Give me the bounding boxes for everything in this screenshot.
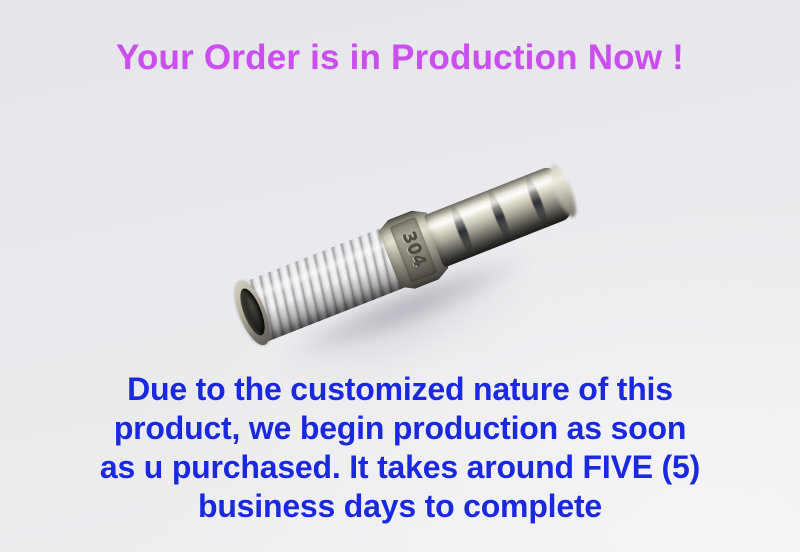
page-title: Your Order is in Production Now ! (0, 38, 800, 78)
message-line-3: as u purchased. It takes around FIVE (5) (0, 448, 800, 487)
message-line-2: product, we begin production as soon (0, 409, 800, 448)
message-line-4: business days to complete (0, 487, 800, 526)
notice-graphic: Your Order is in Production Now ! 304 (0, 0, 800, 552)
production-message: Due to the customized nature of this pro… (0, 370, 800, 526)
message-line-1: Due to the customized nature of this (0, 370, 800, 409)
product-photo: 304 (215, 130, 635, 380)
